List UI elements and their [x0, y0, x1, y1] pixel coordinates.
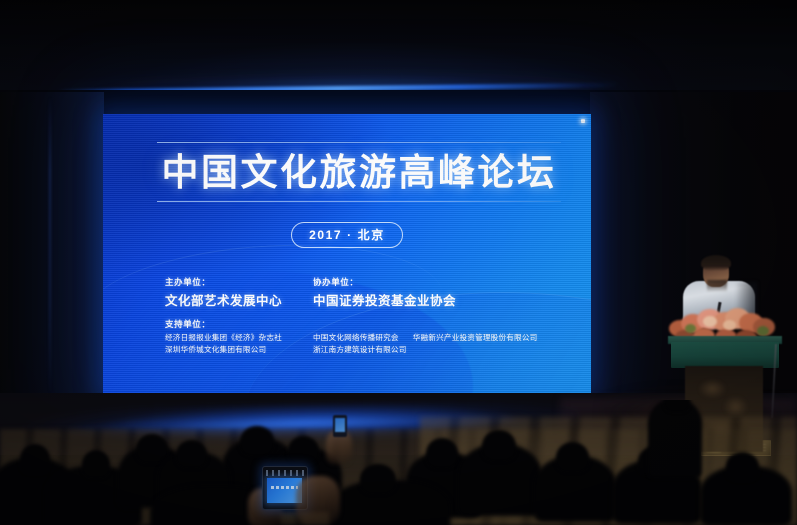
curtain-seam	[49, 96, 51, 396]
conference-hall-photo: 中国文化旅游高峰论坛 2017 · 北京 主办单位： 文化部艺术发展中心 协办单…	[0, 0, 797, 525]
support-item: 中国文化网络传播研究会	[313, 332, 399, 344]
page-title: 中国文化旅游高峰论坛	[157, 152, 561, 193]
support-item: 华融新兴产业投资管理股份有限公司	[413, 332, 538, 344]
co-organizer-column: 协办单位： 中国证券投资基金业协会	[313, 276, 545, 316]
audience-silhouette	[726, 452, 759, 481]
stage-wall-left	[0, 92, 104, 422]
phone-screen	[335, 418, 345, 432]
co-organizer-value: 中国证券投资基金业协会	[313, 290, 545, 309]
audience-silhouette	[240, 426, 274, 456]
slide-title-block: 中国文化旅游高峰论坛	[157, 142, 561, 202]
support-item: 浙江南方建筑设计有限公司	[313, 344, 545, 356]
projection-screen: 中国文化旅游高峰论坛 2017 · 北京 主办单位： 文化部艺术发展中心 协办单…	[103, 114, 591, 393]
title-rule-top	[157, 142, 561, 143]
audience-area	[0, 400, 797, 525]
phone-status-bar	[266, 470, 304, 476]
support-label: 支持单位：	[165, 318, 545, 330]
date-badge-wrap: 2017 · 北京	[103, 222, 591, 248]
support-row: 经济日报报业集团《经济》杂志社 深圳华侨城文化集团有限公司 中国文化网络传播研究…	[165, 332, 545, 357]
support-column-right: 中国文化网络传播研究会 华融新兴产业投资管理股份有限公司 浙江南方建筑设计有限公…	[313, 332, 545, 357]
slide-content: 中国文化旅游高峰论坛 2017 · 北京 主办单位： 文化部艺术发展中心 协办单…	[103, 114, 591, 393]
audience-silhouette	[82, 450, 110, 478]
audience-silhouette	[482, 430, 516, 461]
support-item: 深圳华侨城文化集团有限公司	[165, 344, 313, 356]
standing-attendee-head	[664, 400, 690, 412]
title-rule-bottom	[157, 201, 561, 202]
attendee-hand	[296, 476, 340, 524]
support-block: 支持单位： 经济日报报业集团《经济》杂志社 深圳华侨城文化集团有限公司 中国文化…	[165, 318, 545, 357]
support-item: 经济日报报业集团《经济》杂志社	[165, 332, 313, 344]
audience-silhouette	[360, 464, 396, 494]
phone-screen-content	[271, 486, 298, 489]
audience-silhouette	[556, 442, 589, 472]
organizer-column: 主办单位： 文化部艺术发展中心	[165, 276, 313, 316]
speaker-hair	[701, 255, 731, 271]
podium-front-panel	[671, 342, 779, 368]
audience-silhouette	[136, 434, 168, 463]
organizer-value: 文化部艺术发展中心	[165, 290, 313, 309]
co-organizer-label: 协办单位：	[313, 276, 545, 288]
organizer-row: 主办单位： 文化部艺术发展中心 协办单位： 中国证券投资基金业协会	[165, 276, 545, 316]
audience-silhouette	[176, 440, 207, 468]
attendee-phone-second	[333, 415, 347, 437]
support-column-left: 经济日报报业集团《经济》杂志社 深圳华侨城文化集团有限公司	[165, 332, 313, 357]
support-subrow: 中国文化网络传播研究会 华融新兴产业投资管理股份有限公司	[313, 332, 545, 344]
audience-silhouette	[426, 438, 458, 468]
date-location-badge: 2017 · 北京	[291, 222, 403, 248]
audience-silhouette	[20, 444, 50, 474]
organizer-label: 主办单位：	[165, 276, 313, 288]
speaker-collar	[707, 280, 727, 292]
audience-silhouette	[288, 436, 319, 464]
organizer-block: 主办单位： 文化部艺术发展中心 协办单位： 中国证券投资基金业协会 支持单位： …	[165, 276, 545, 357]
